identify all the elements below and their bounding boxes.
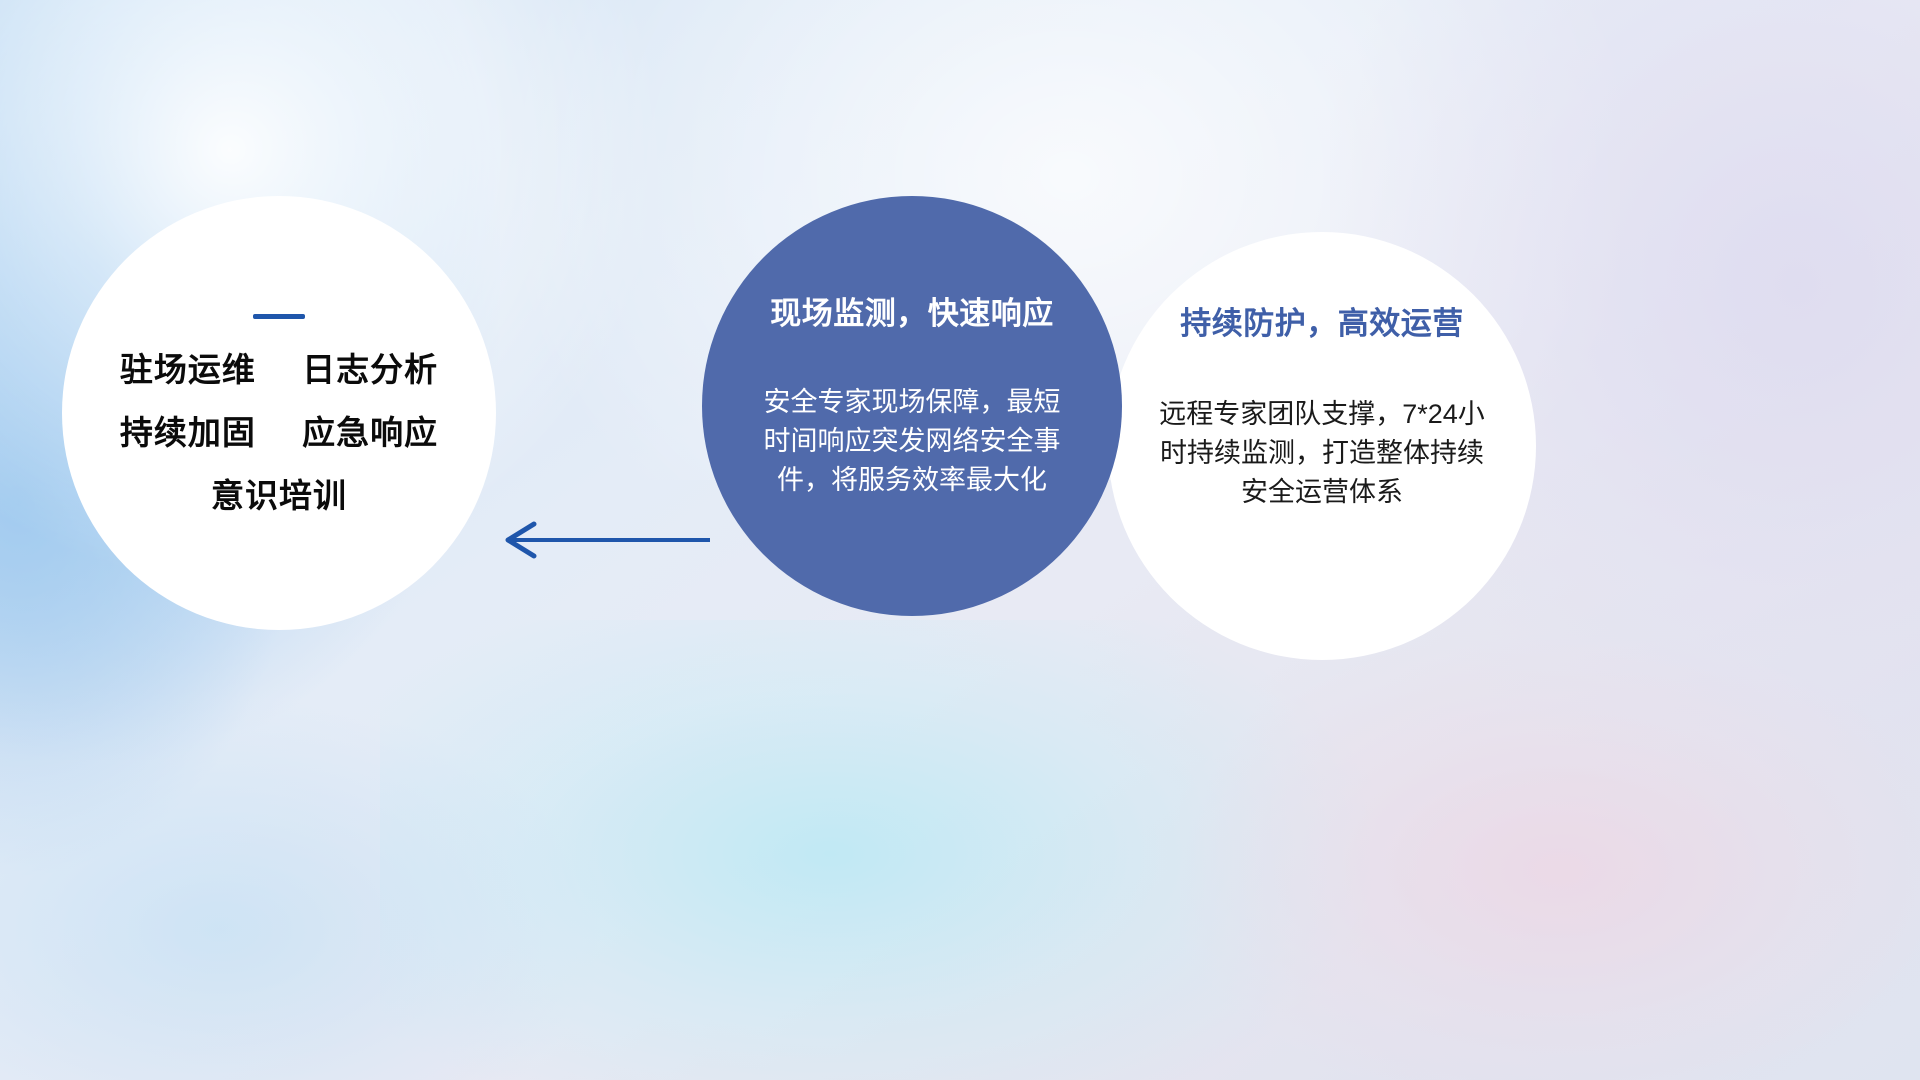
divider-dash <box>253 314 305 319</box>
left-tag-rizhifenxi: 日志分析 <box>302 351 438 388</box>
middle-circle-title: 现场监测，快速响应 <box>770 288 1054 333</box>
left-tag-yingjixiangying: 应急响应 <box>302 414 438 451</box>
left-tag-chixujiagu: 持续加固 <box>120 414 256 451</box>
slide-canvas: 驻场运维 日志分析 持续加固 应急响应 意识培训 持续防护，高效运营 远程专家团… <box>0 0 1920 1080</box>
flow-arrow <box>496 510 711 570</box>
left-circle-line-1: 驻场运维 日志分析 <box>120 353 438 386</box>
left-circle-line-2: 持续加固 应急响应 <box>120 416 438 449</box>
left-circle-line-3: 意识培训 <box>211 479 347 512</box>
right-circle-body: 远程专家团队支撑，7*24小时持续监测，打造整体持续安全运营体系 <box>1149 395 1495 512</box>
middle-circle-body: 安全专家现场保障，最短时间响应突发网络安全事件，将服务效率最大化 <box>757 383 1067 500</box>
left-tag-zhuchangyunwei: 驻场运维 <box>120 351 256 388</box>
background-glow-bottom-left <box>0 700 600 1080</box>
arrow-left-icon <box>496 510 711 570</box>
background-pink-glow-bottom <box>1180 640 1920 1080</box>
left-tag-yishipeixun: 意识培训 <box>211 477 347 514</box>
middle-service-circle[interactable]: 现场监测，快速响应 安全专家现场保障，最短时间响应突发网络安全事件，将服务效率最… <box>702 196 1122 616</box>
left-service-circle[interactable]: 驻场运维 日志分析 持续加固 应急响应 意识培训 <box>62 196 496 630</box>
right-service-circle[interactable]: 持续防护，高效运营 远程专家团队支撑，7*24小时持续监测，打造整体持续安全运营… <box>1108 232 1536 660</box>
right-circle-title: 持续防护，高效运营 <box>1180 298 1464 343</box>
